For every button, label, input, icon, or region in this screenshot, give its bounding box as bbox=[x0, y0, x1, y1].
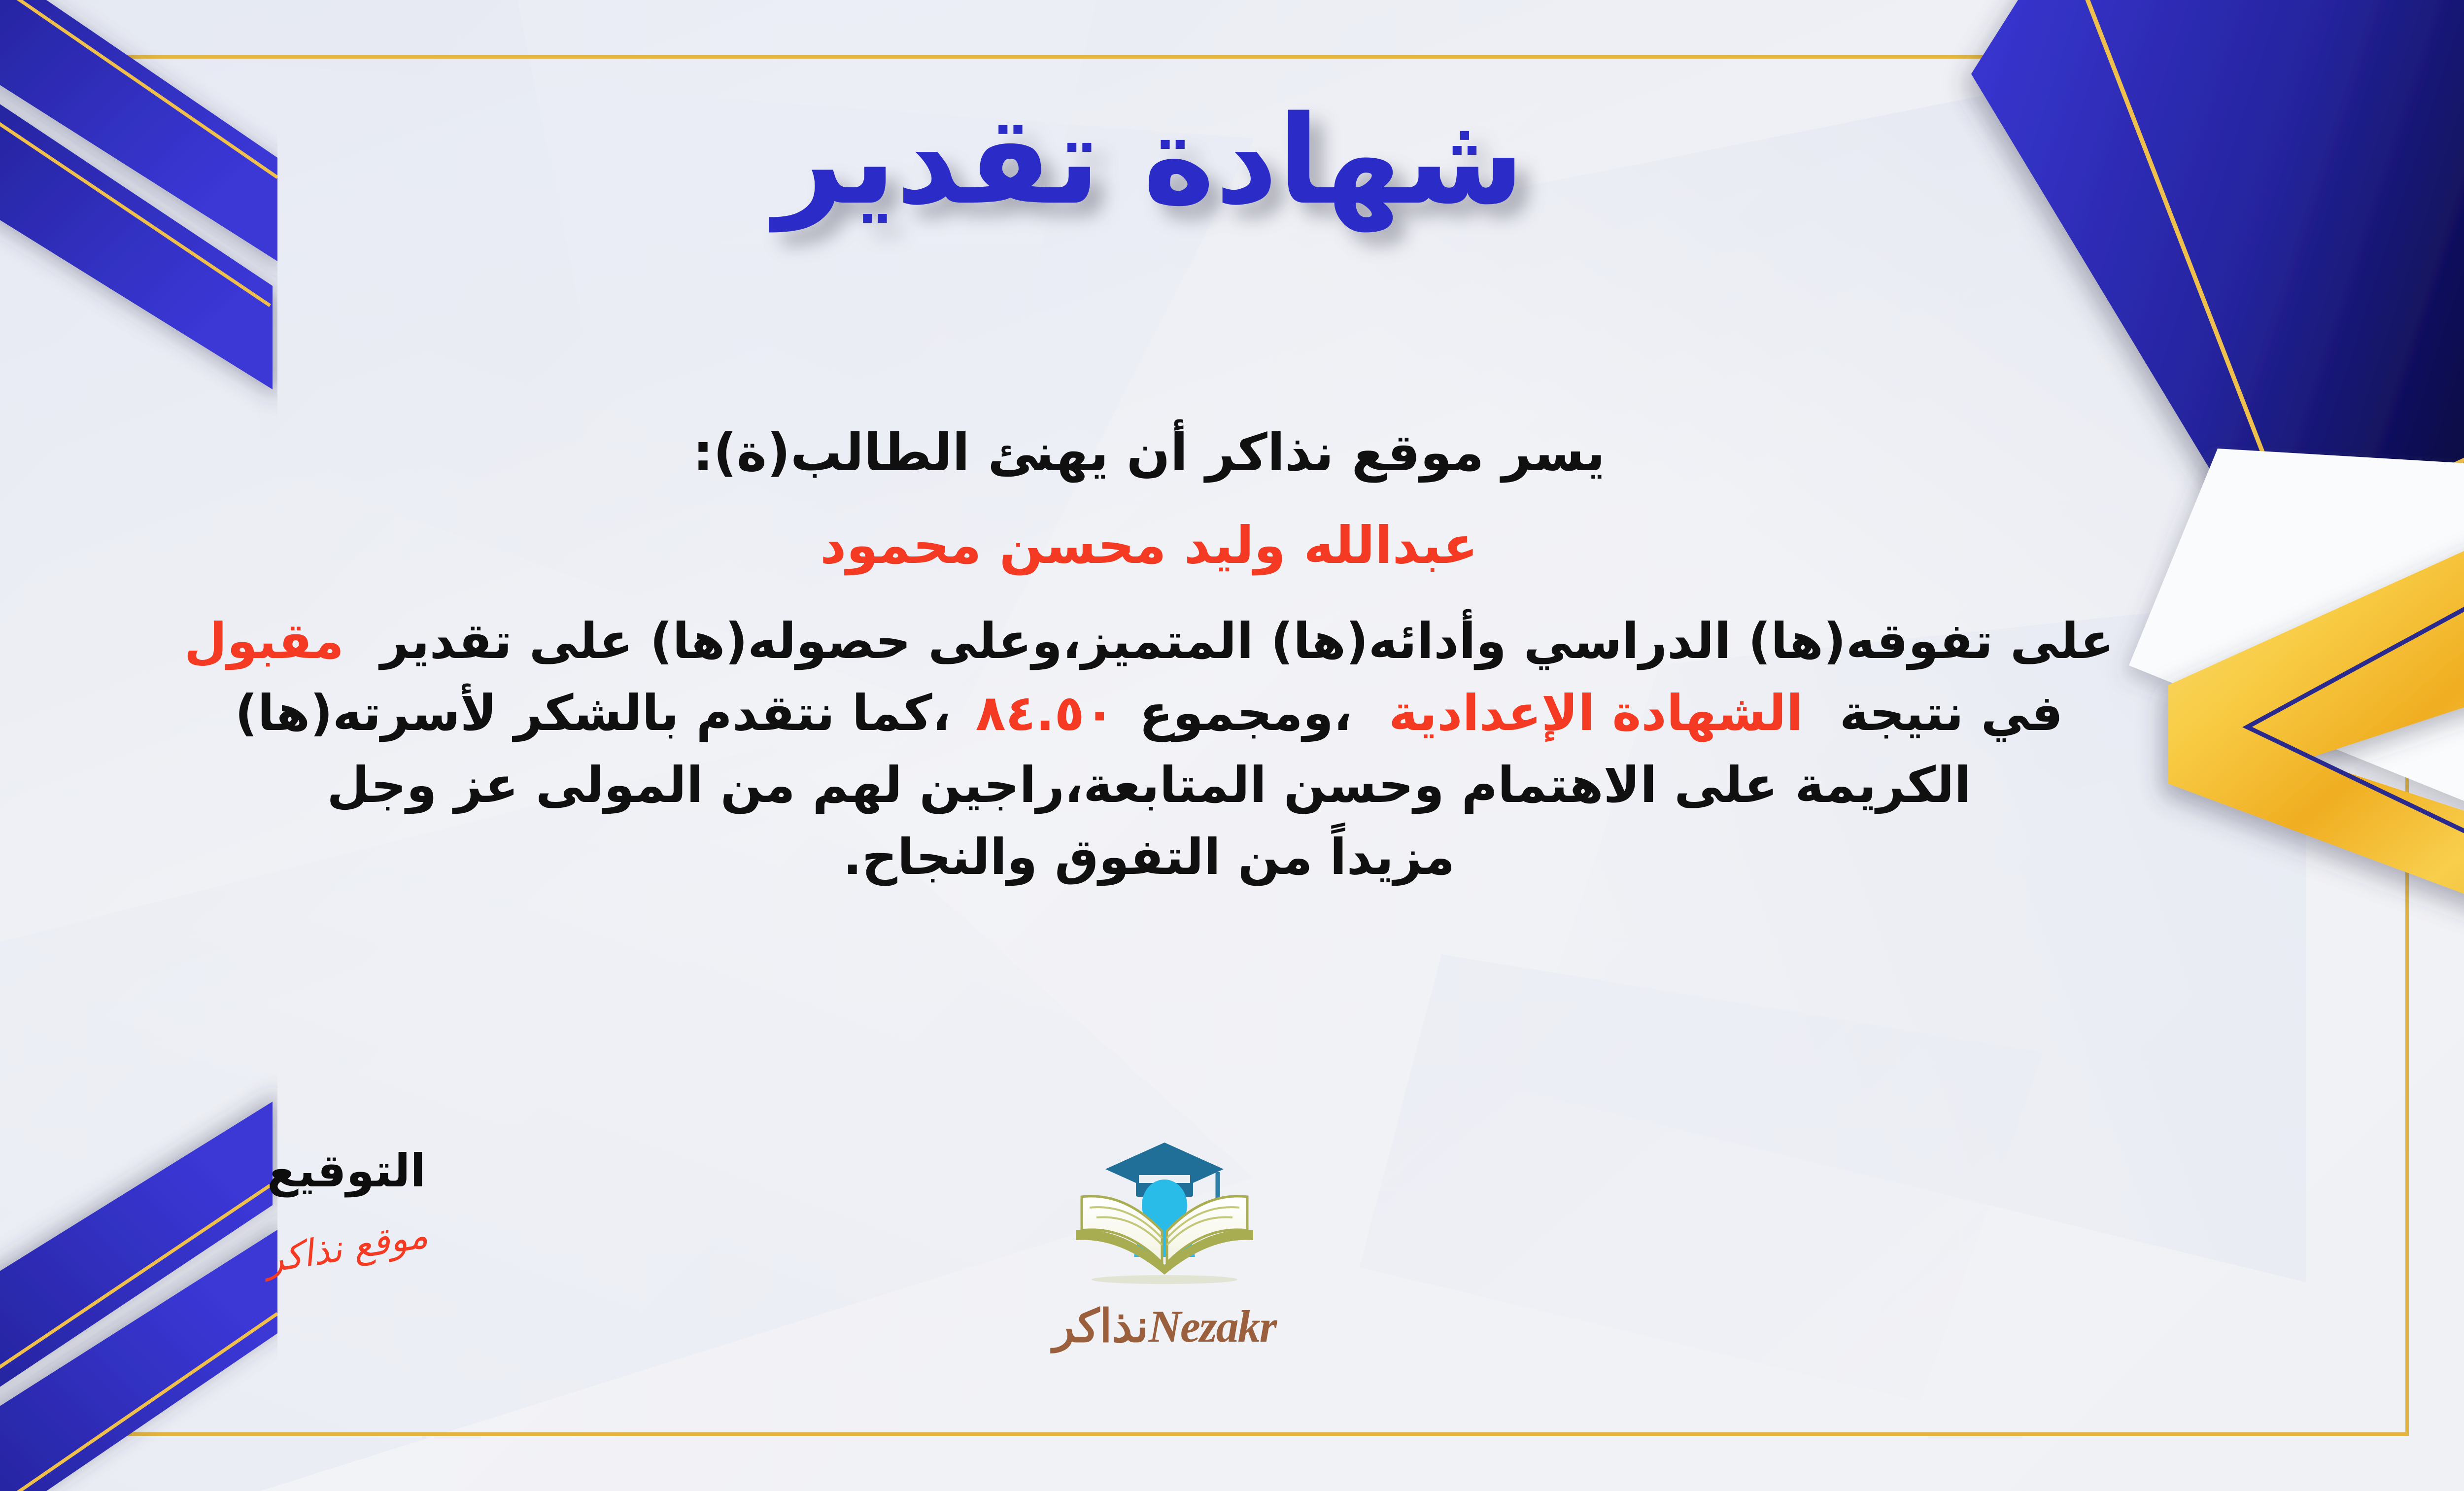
paragraph-line-4: مزيداً من التفوق والنجاح. bbox=[0, 821, 2351, 893]
thanks-text: ،كما نتقدم بالشكر لأسرته(ها) bbox=[235, 684, 951, 742]
signature-label: التوقيع bbox=[208, 1148, 484, 1194]
achievement-text: على تفوقه(ها) الدراسي وأدائه(ها) المتميز… bbox=[380, 612, 2114, 670]
paragraph-line-2: في نتيجةالشهادة الإعدادية،ومجموع٨٤.٥٠،كم… bbox=[0, 677, 2351, 749]
logo-name-arabic: نذاكر bbox=[1053, 1299, 1149, 1352]
result-prefix: في نتيجة bbox=[1840, 684, 2063, 742]
paragraph-line-1: على تفوقه(ها) الدراسي وأدائه(ها) المتميز… bbox=[0, 605, 2351, 677]
certificate-body: يسر موقع نذاكر أن يهنئ الطالب(ة): عبدالل… bbox=[0, 416, 2351, 893]
signature-block: التوقيع موقع نذاكر bbox=[208, 1148, 484, 1269]
intro-line: يسر موقع نذاكر أن يهنئ الطالب(ة): bbox=[0, 416, 2351, 489]
logo-wordmark: Nezakrنذاكر bbox=[967, 1299, 1362, 1352]
student-name: عبدالله وليد محسن محمود bbox=[0, 512, 2351, 579]
graduate-book-icon bbox=[1061, 1134, 1268, 1296]
grade-value: مقبول bbox=[184, 612, 344, 670]
certificate-title-text: شهادة تقدير bbox=[768, 90, 1524, 233]
logo-name-latin: Nezakr bbox=[1149, 1301, 1276, 1352]
certificate-page: شهادة تقدير يسر موقع نذاكر أن يهنئ الطال… bbox=[0, 0, 2464, 1491]
total-label: ،ومجموع bbox=[1139, 684, 1352, 742]
exam-name: الشهادة الإعدادية bbox=[1389, 684, 1803, 742]
paragraph-line-3: الكريمة على الاهتمام وحسن المتابعة،راجين… bbox=[0, 749, 2351, 821]
certificate-title: شهادة تقدير bbox=[0, 86, 2464, 251]
score-value: ٨٤.٥٠ bbox=[976, 684, 1115, 742]
achievement-paragraph: على تفوقه(ها) الدراسي وأدائه(ها) المتميز… bbox=[0, 605, 2351, 893]
site-logo: Nezakrنذاكر bbox=[967, 1134, 1362, 1352]
